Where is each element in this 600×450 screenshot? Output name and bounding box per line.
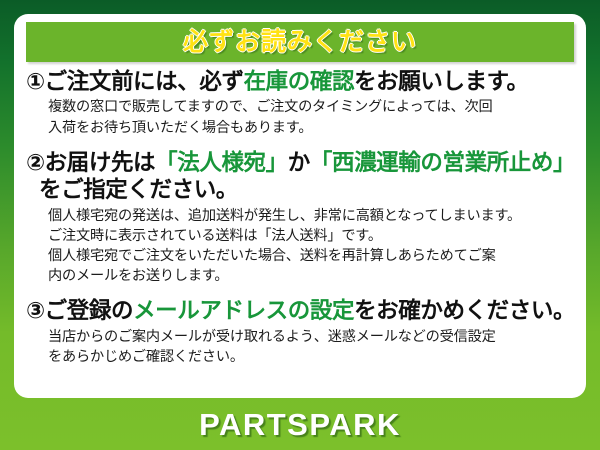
- notice-items-list: ①ご注文前には、必ず在庫の確認をお願いします。 複数の窓口で販売してますので、ご…: [24, 62, 576, 367]
- notice-item-3: ③ご登録のメールアドレスの設定をお確かめください。 当店からのご案内メールが受け…: [26, 297, 574, 367]
- body-line: ご注文時に表示されている送料は「法人送料」です。: [48, 226, 574, 246]
- notice-item-2-heading: ②お届け先は「法人様宛」か「西濃運輸の営業所止め」: [26, 149, 574, 176]
- heading-segment: をお願いします。: [354, 69, 529, 94]
- heading-segment-highlight: 「西濃運輸の営業所止め」: [310, 150, 575, 175]
- footer: PARTSPARK: [0, 398, 600, 450]
- notice-item-3-body: 当店からのご案内メールが受け取れるよう、迷惑メールなどの受信設定 をあらかじめご…: [26, 325, 574, 367]
- notice-item-2: ②お届け先は「法人様宛」か「西濃運輸の営業所止め」 をご指定ください。 個人様宅…: [26, 149, 574, 287]
- brand-logo-text: PARTSPARK: [199, 409, 401, 440]
- notice-item-2-heading-continuation: をご指定ください。: [26, 176, 574, 203]
- body-line: 複数の窓口で販売してますので、ご注文のタイミングによっては、次回: [48, 97, 574, 117]
- heading-segment: をお確かめください。: [354, 298, 575, 323]
- notice-item-1: ①ご注文前には、必ず在庫の確認をお願いします。 複数の窓口で販売してますので、ご…: [26, 68, 574, 138]
- body-line: 個人様宅宛の発送は、追加送料が発生し、非常に高額となってしまいます。: [48, 206, 574, 226]
- body-line: 当店からのご案内メールが受け取れるよう、迷惑メールなどの受信設定: [48, 327, 574, 347]
- white-content-panel: 必ずお読みください ①ご注文前には、必ず在庫の確認をお願いします。 複数の窓口で…: [14, 14, 586, 398]
- notice-item-1-body: 複数の窓口で販売してますので、ご注文のタイミングによっては、次回 入荷をお待ち頂…: [26, 95, 574, 137]
- notice-item-2-body: 個人様宅宛の発送は、追加送料が発生し、非常に高額となってしまいます。 ご注文時に…: [26, 204, 574, 287]
- banner: 必ずお読みください: [26, 22, 574, 62]
- notice-item-3-heading: ③ご登録のメールアドレスの設定をお確かめください。: [26, 297, 574, 324]
- heading-segment: か: [288, 150, 310, 175]
- body-line: をあらかじめご確認ください。: [48, 347, 574, 367]
- heading-segment-highlight: メールアドレスの設定: [133, 298, 354, 323]
- banner-title: 必ずお読みください: [183, 30, 417, 55]
- body-line: 個人様宅宛でご注文をいただいた場合、送料を再計算しあらためてご案: [48, 246, 574, 266]
- heading-segment-highlight: 在庫の確認: [244, 69, 355, 94]
- notice-card: 必ずお読みください ①ご注文前には、必ず在庫の確認をお願いします。 複数の窓口で…: [0, 0, 600, 450]
- heading-segment: ①ご注文前には、必ず: [26, 69, 244, 94]
- heading-segment: ②お届け先は: [26, 150, 155, 175]
- notice-item-1-heading: ①ご注文前には、必ず在庫の確認をお願いします。: [26, 68, 574, 95]
- body-line: 入荷をお待ち頂いただく場合もあります。: [48, 118, 574, 138]
- heading-segment: ③ご登録の: [26, 298, 133, 323]
- heading-segment-highlight: 「法人様宛」: [155, 150, 288, 175]
- body-line: 内のメールをお送りします。: [48, 266, 574, 286]
